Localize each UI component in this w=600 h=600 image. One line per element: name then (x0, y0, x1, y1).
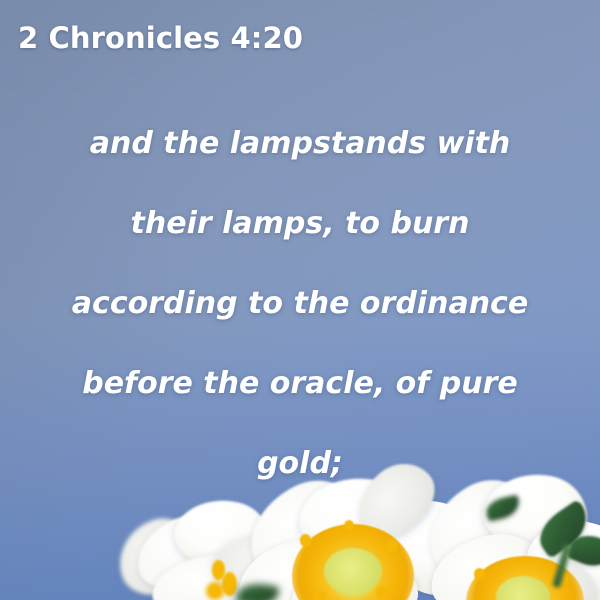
flower-center-stamen-fleck-3 (344, 520, 354, 532)
verse-line-2: their lamps, to burn (30, 184, 570, 264)
verse-text: and the lampstands with their lamps, to … (30, 104, 570, 504)
flower-center-stamen-fleck-5 (376, 586, 389, 598)
flower-center-stamen-fleck-2 (386, 540, 398, 552)
verse-reference: 2 Chronicles 4:20 (18, 21, 303, 55)
verse-image: 2 Chronicles 4:20 and the lampstands wit… (0, 0, 600, 600)
verse-line-4: before the oracle, of pure (30, 344, 570, 424)
flower-center-stamen-core (324, 548, 382, 594)
flower-left-stamen-b (222, 572, 237, 596)
verse-line-3: according to the ordinance (30, 264, 570, 344)
verse-line-1: and the lampstands with (30, 104, 570, 184)
flower-right-stamen-fleck-1 (474, 568, 485, 580)
flower-center-stamen-fleck-4 (314, 590, 326, 600)
verse-line-5: gold; (30, 424, 570, 504)
flower-center-stamen-fleck-1 (300, 534, 311, 547)
flower-left-stamen-c (206, 582, 224, 600)
